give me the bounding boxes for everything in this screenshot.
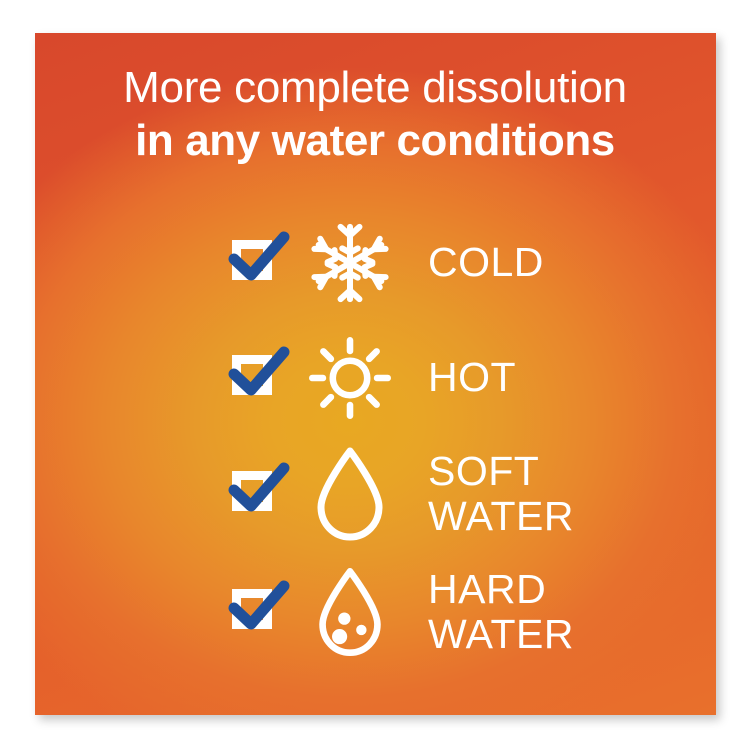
marketing-infographic: More complete dissolution in any water c… — [0, 0, 750, 750]
list-item-label: HOT — [428, 355, 516, 400]
benefit-list: COLD — [0, 205, 750, 671]
mineral-dot — [338, 612, 350, 624]
headline-line-1: More complete dissolution — [0, 62, 750, 114]
headline: More complete dissolution in any water c… — [0, 62, 750, 167]
checkmark-icon — [228, 459, 290, 521]
sun-icon — [300, 337, 400, 419]
mineral-dot — [332, 629, 347, 644]
checkmark-icon — [228, 228, 290, 290]
soft-water-checkbox[interactable] — [228, 463, 290, 525]
water-drop-icon — [300, 445, 400, 543]
water-drop-minerals-icon — [300, 565, 400, 659]
hot-checkbox[interactable] — [228, 347, 290, 409]
list-item: COLD — [0, 205, 750, 320]
cold-checkbox[interactable] — [228, 232, 290, 294]
headline-line-2: in any water conditions — [0, 114, 750, 167]
checkmark-icon — [228, 343, 290, 405]
checkmark-icon — [228, 577, 290, 639]
list-item: SOFT WATER — [0, 435, 750, 553]
mineral-dot — [356, 625, 366, 635]
list-item-label: COLD — [428, 240, 544, 285]
list-item: HARD WATER — [0, 553, 750, 671]
list-item-label: SOFT WATER — [428, 449, 574, 539]
hard-water-checkbox[interactable] — [228, 581, 290, 643]
snowflake-icon — [300, 220, 400, 306]
list-item-label: HARD WATER — [428, 567, 574, 657]
list-item: HOT — [0, 320, 750, 435]
